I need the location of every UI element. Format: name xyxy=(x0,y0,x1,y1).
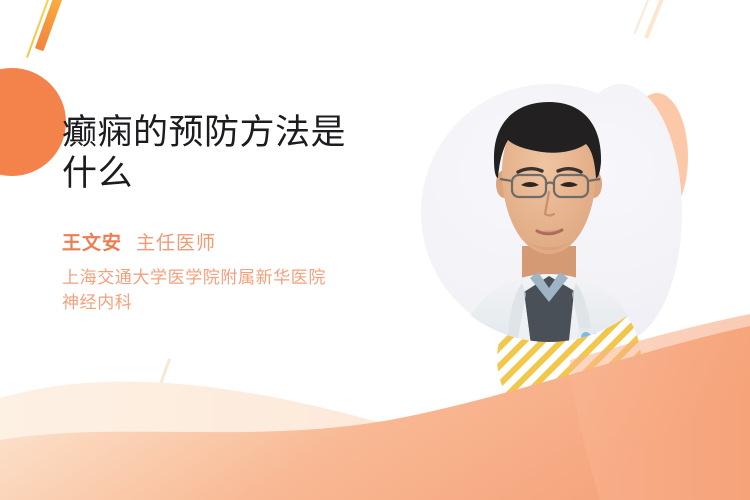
byline: 王文安主任医师 xyxy=(62,228,432,255)
orange-circle-decoration xyxy=(0,68,66,176)
top-right-faint-line-b-decoration xyxy=(633,0,654,34)
page-title: 癫痫的预防方法是 什么 xyxy=(62,112,432,194)
doctor-name: 王文安 xyxy=(62,233,122,254)
doctor-portrait xyxy=(438,78,666,368)
top-left-orange-stripe-decoration xyxy=(35,0,70,51)
text-block: 癫痫的预防方法是 什么 王文安主任医师 上海交通大学医学院附属新华医院 神经内科 xyxy=(62,112,432,315)
hospital-badge-icon xyxy=(581,332,616,344)
top-left-thin-line-decoration xyxy=(26,0,56,58)
doctor-affiliation: 上海交通大学医学院附属新华医院 神经内科 xyxy=(62,265,432,315)
doctor-job-title: 主任医师 xyxy=(136,233,216,254)
center-faint-slash-decoration xyxy=(158,358,171,387)
top-right-faint-line-a-decoration xyxy=(644,0,669,39)
cover-canvas: 癫痫的预防方法是 什么 王文安主任医师 上海交通大学医学院附属新华医院 神经内科 xyxy=(0,0,750,500)
